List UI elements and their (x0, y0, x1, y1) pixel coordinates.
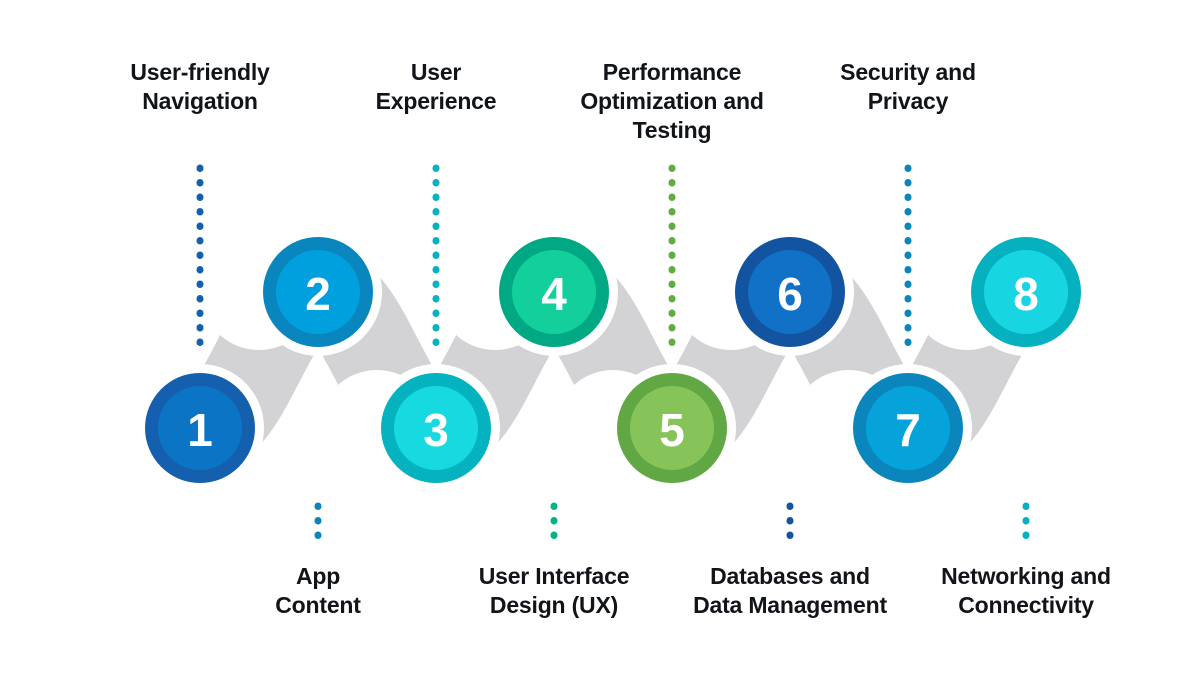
step-label-5: Performance Optimization and Testing (542, 58, 802, 144)
step-number-2: 2 (305, 268, 331, 320)
step-label-5-line-3: Testing (542, 116, 802, 145)
step-node-4[interactable]: 4 (499, 237, 609, 347)
step-node-2[interactable]: 2 (263, 237, 373, 347)
step-label-2-line-2: Content (188, 591, 448, 620)
step-number-6: 6 (777, 268, 803, 320)
step-node-6[interactable]: 6 (735, 237, 845, 347)
step-node-3[interactable]: 3 (381, 373, 491, 483)
step-label-1: User-friendly Navigation (60, 58, 340, 116)
step-node-5[interactable]: 5 (617, 373, 727, 483)
step-label-3-line-2: Experience (306, 87, 566, 116)
step-node-8[interactable]: 8 (971, 237, 1081, 347)
step-number-7: 7 (895, 404, 921, 456)
step-label-8-line-1: Networking and (886, 562, 1166, 591)
step-node-7[interactable]: 7 (853, 373, 963, 483)
process-infographic: 1 2 3 4 5 6 7 (0, 0, 1200, 688)
step-number-4: 4 (541, 268, 567, 320)
step-number-1: 1 (187, 404, 213, 456)
step-label-5-line-2: Optimization and (542, 87, 802, 116)
step-label-3: User Experience (306, 58, 566, 116)
step-label-3-line-1: User (306, 58, 566, 87)
step-label-1-line-1: User-friendly (60, 58, 340, 87)
step-label-5-line-1: Performance (542, 58, 802, 87)
step-label-7-line-1: Security and (778, 58, 1038, 87)
step-label-8-line-2: Connectivity (886, 591, 1166, 620)
step-node-1[interactable]: 1 (145, 373, 255, 483)
step-label-2-line-1: App (188, 562, 448, 591)
step-label-7-line-2: Privacy (778, 87, 1038, 116)
step-label-2: App Content (188, 562, 448, 620)
step-number-5: 5 (659, 404, 685, 456)
step-label-1-line-2: Navigation (60, 87, 340, 116)
step-label-7: Security and Privacy (778, 58, 1038, 116)
step-number-8: 8 (1013, 268, 1039, 320)
step-number-3: 3 (423, 404, 449, 456)
step-label-8: Networking and Connectivity (886, 562, 1166, 620)
